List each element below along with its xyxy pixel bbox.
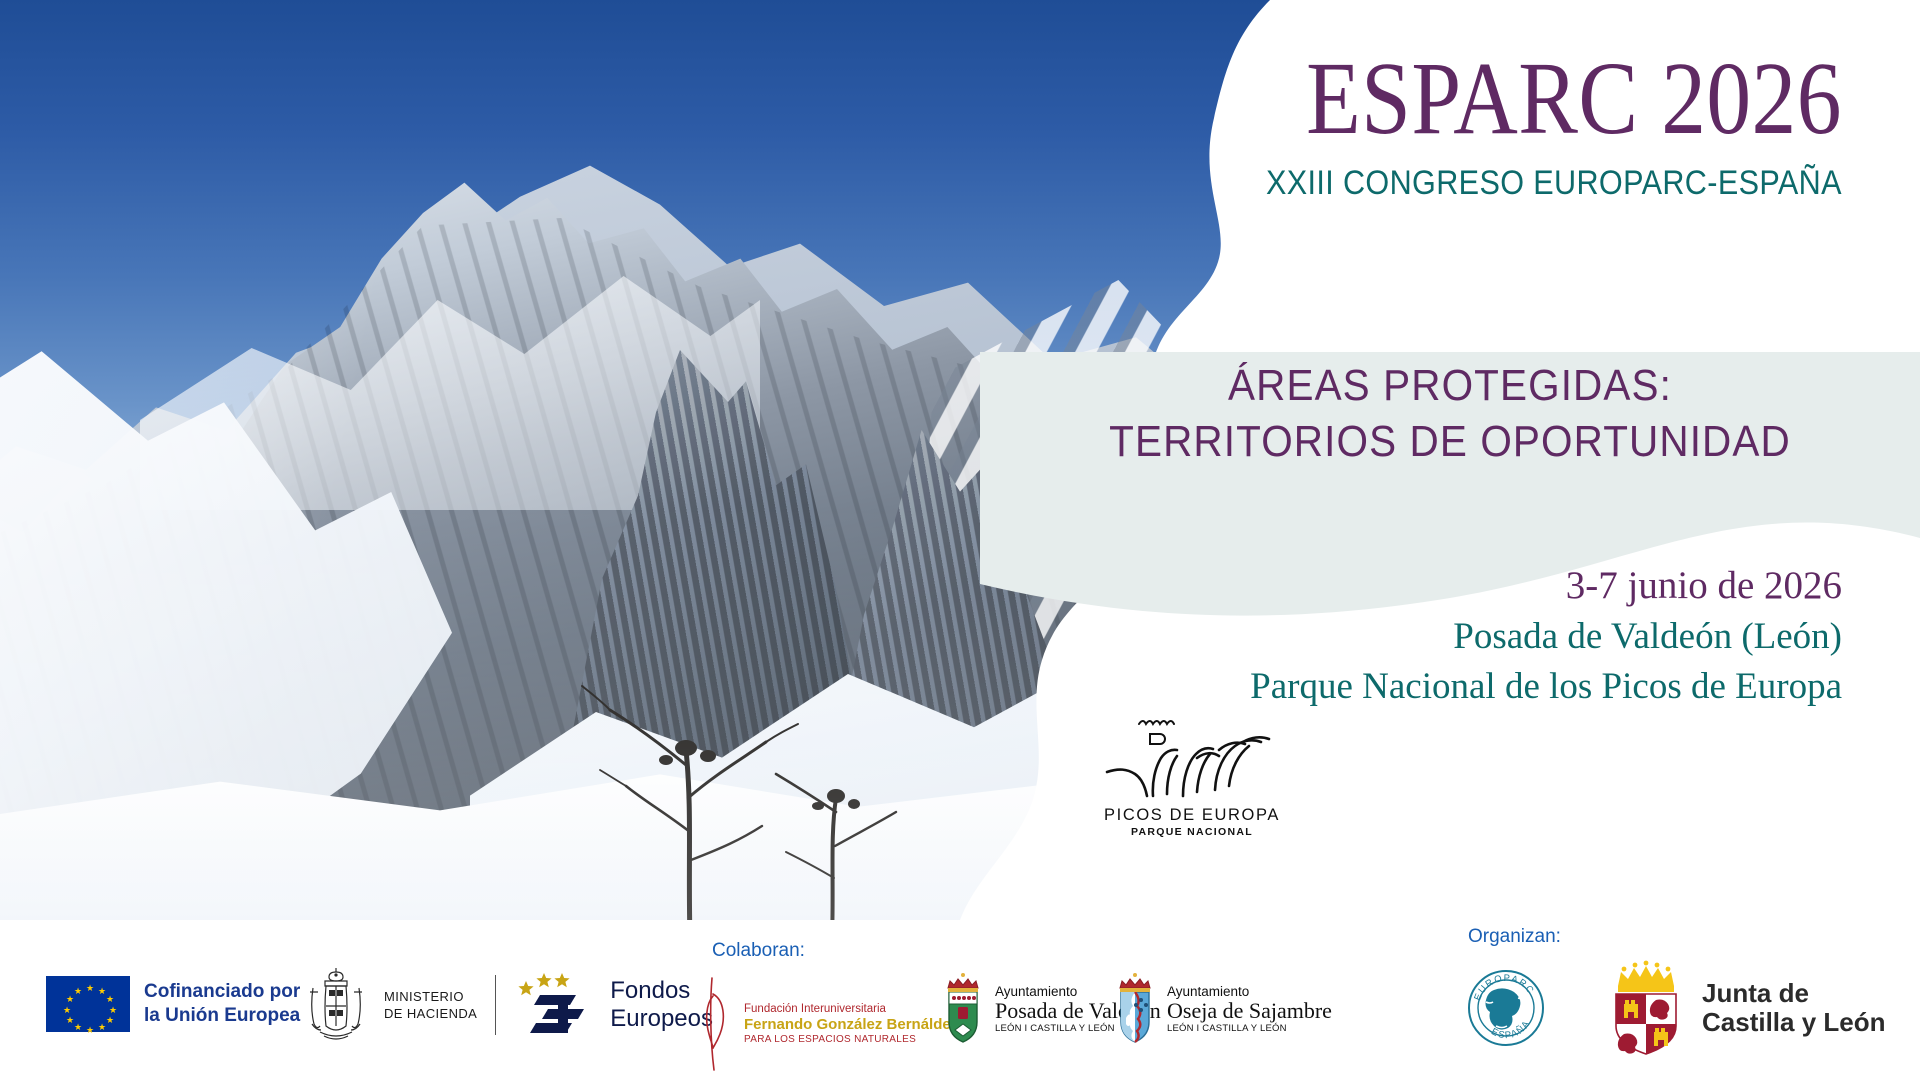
page-title: ESPARC 2026 (1292, 48, 1842, 150)
ministerio-text: MINISTERIO DE HACIENDA (384, 988, 477, 1023)
picos-logo-subtitle: PARQUE NACIONAL (1092, 826, 1292, 838)
ayuntamiento-oseja-logo: Ayuntamiento Oseja de Sajambre LEÓN I CA… (1112, 972, 1332, 1046)
oseja-line-3: LEÓN I CASTILLA Y LEÓN (1167, 1023, 1332, 1034)
oseja-line-1: Ayuntamiento (1167, 984, 1332, 999)
mountain-sketch-icon (1097, 712, 1287, 804)
eu-text-line-1: Cofinanciado por (144, 980, 300, 1004)
event-park: Parque Nacional de los Picos de Europa (982, 662, 1842, 712)
fondos-europeos-icon (514, 969, 598, 1041)
junta-line-1: Junta de (1702, 979, 1886, 1008)
colaboran-label: Colaboran: (712, 940, 805, 962)
fundacion-fgb-logo: Fundación Interuniversitaria Fernando Go… (700, 976, 958, 1072)
fondos-europeos-text: Fondos Europeos (610, 977, 713, 1034)
theme-line-1: ÁREAS PROTEGIDAS: (1018, 358, 1883, 414)
fundacion-line-2: Fernando González Bernáldez (744, 1016, 958, 1033)
oseja-coat-of-arms-icon (1112, 972, 1158, 1046)
junta-line-2: Castilla y León (1702, 1008, 1886, 1037)
fundacion-leaf-icon (700, 976, 734, 1072)
event-place: Posada de Valdeón (León) (982, 612, 1842, 662)
oseja-line-2: Oseja de Sajambre (1167, 999, 1332, 1023)
fondos-line-2: Europeos (610, 1005, 713, 1033)
eu-text-line-2: la Unión Europea (144, 1004, 300, 1028)
fondos-line-1: Fondos (610, 977, 713, 1005)
logo-divider (495, 975, 496, 1035)
oseja-text: Ayuntamiento Oseja de Sajambre LEÓN I CA… (1167, 984, 1332, 1034)
sponsor-bar: Colaboran: Organizan: ★ ★ ★ ★ ★ ★ ★ ★ ★ … (0, 920, 1920, 1080)
eu-logo-text: Cofinanciado por la Unión Europea (144, 980, 300, 1027)
page-subtitle: XXIII CONGRESO EUROPARC-ESPAÑA (1266, 164, 1842, 203)
theme-text: ÁREAS PROTEGIDAS: TERRITORIOS DE OPORTUN… (980, 330, 1920, 471)
posada-coat-of-arms-icon (940, 972, 986, 1046)
europarc-espana-logo: EUROPARC ESPAÑA (1466, 968, 1546, 1048)
foreground-branches (440, 560, 1000, 920)
event-details: 3-7 junio de 2026 Posada de Valdeón (Leó… (982, 560, 1842, 711)
fundacion-text: Fundación Interuniversitaria Fernando Go… (744, 1003, 958, 1045)
picos-de-europa-logo: PICOS DE EUROPA PARQUE NACIONAL (1092, 712, 1292, 838)
event-date: 3-7 junio de 2026 (982, 560, 1842, 612)
crown-icon (1618, 961, 1674, 992)
junta-coat-of-arms-icon (1600, 960, 1692, 1056)
title-block: ESPARC 2026 XXIII CONGRESO EUROPARC-ESPA… (1202, 48, 1842, 203)
europarc-globe-icon: EUROPARC ESPAÑA (1466, 968, 1546, 1048)
ministerio-line-1: MINISTERIO (384, 988, 477, 1005)
eu-flag-icon: ★ ★ ★ ★ ★ ★ ★ ★ ★ ★ ★ ★ (46, 976, 130, 1032)
ministerio-line-2: DE HACIENDA (384, 1005, 477, 1022)
junta-castilla-leon-logo: Junta de Castilla y León (1600, 960, 1886, 1056)
ministerio-hacienda-logo: MINISTERIO DE HACIENDA Fondos (300, 966, 713, 1044)
picos-logo-name: PICOS DE EUROPA (1092, 806, 1292, 825)
spanish-coat-of-arms-icon (300, 966, 372, 1044)
organizan-label: Organizan: (1468, 926, 1561, 948)
fundacion-line-3: PARA LOS ESPACIOS NATURALES (744, 1034, 958, 1045)
congress-poster: ESPARC 2026 XXIII CONGRESO EUROPARC-ESPA… (0, 0, 1920, 1080)
theme-line-2: TERRITORIOS DE OPORTUNIDAD (1018, 414, 1883, 470)
fundacion-line-1: Fundación Interuniversitaria (744, 1003, 958, 1015)
eu-cofinanced-logo: ★ ★ ★ ★ ★ ★ ★ ★ ★ ★ ★ ★ Cofinanciado por… (46, 976, 300, 1032)
junta-text: Junta de Castilla y León (1702, 979, 1886, 1037)
